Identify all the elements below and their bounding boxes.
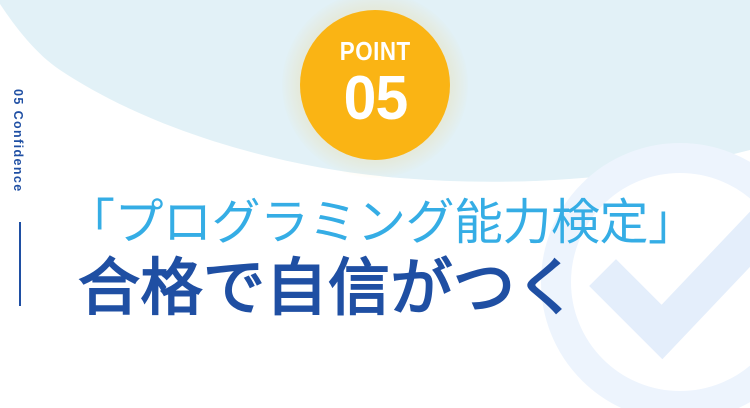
side-label: 05 Confidence — [0, 88, 34, 308]
headline-title: 合格で自信がつく — [78, 256, 706, 321]
headline-subtitle: 「プログラミング能力検定」 — [66, 198, 706, 250]
badge-word: POINT — [340, 38, 411, 64]
point-badge: POINT 05 — [300, 10, 450, 160]
point-banner: 05 Confidence POINT 05 「プログラミング能力検定」 合格で… — [0, 0, 750, 408]
headline-block: 「プログラミング能力検定」 合格で自信がつく — [66, 198, 706, 321]
badge-number: 05 — [343, 68, 407, 130]
side-label-rule — [19, 222, 21, 306]
side-label-text: 05 Confidence — [11, 89, 25, 229]
